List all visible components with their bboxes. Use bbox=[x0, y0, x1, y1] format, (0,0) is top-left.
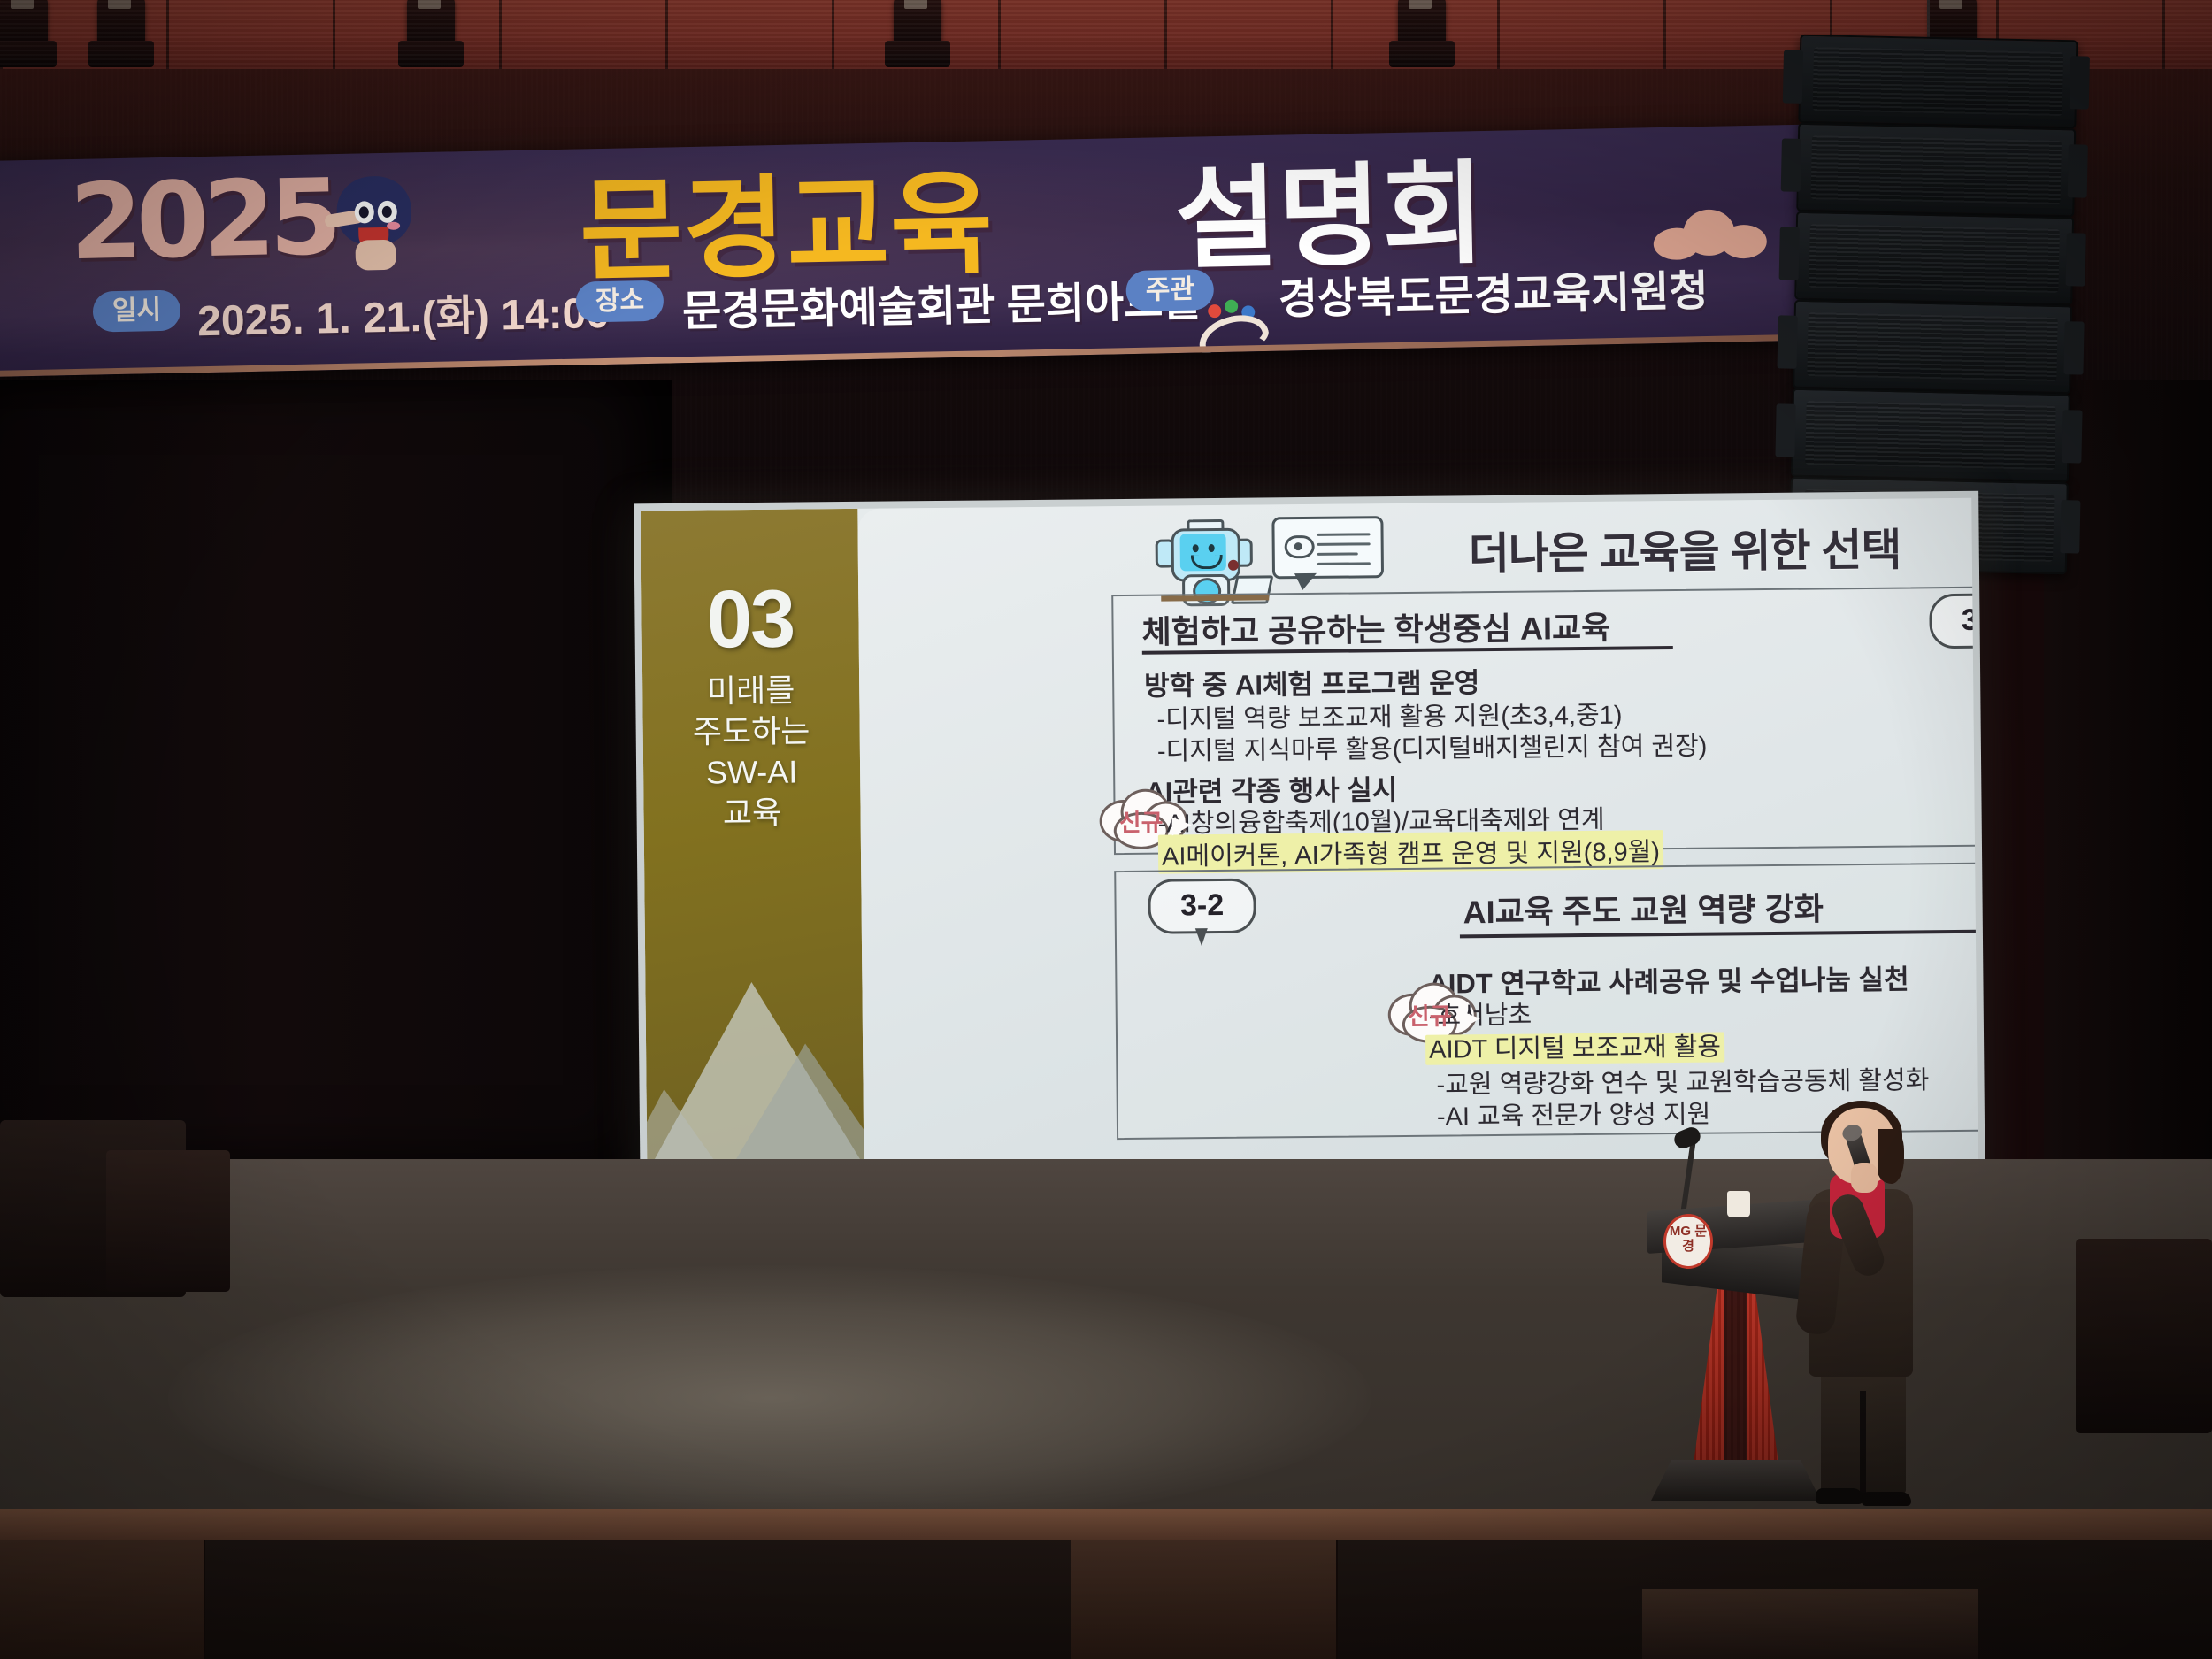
banner-year: 2025 bbox=[69, 156, 337, 283]
presentation-slide: 03 미래를 주도하는 SW-AI 교육 더나은 교 bbox=[641, 498, 1978, 1204]
place-label-pill: 장소 bbox=[575, 280, 664, 323]
section-line-3: SW-AI bbox=[643, 751, 860, 794]
place-value: 문경문화예술회관 문희아트홀 bbox=[681, 265, 1202, 338]
podium-logo: MG 문경 bbox=[1663, 1214, 1713, 1269]
section-number: 03 bbox=[641, 572, 859, 667]
host-value: 경상북도문경교육지원청 bbox=[1278, 256, 1709, 326]
box-3-2-item-2: AIDT 디지털 보조교재 활용 bbox=[1425, 1033, 1724, 1065]
new-badge-label-2: 신규 bbox=[1383, 996, 1477, 1032]
stage-front-edge bbox=[0, 1509, 2212, 1540]
slide-main-area: 더나은 교육을 위한 선택 edubest 체험하고 공유하는 학생중심 AI교… bbox=[857, 498, 1978, 1202]
water-cup bbox=[1727, 1191, 1750, 1217]
auditorium-photo: 2025 문경교육 설명회 일시 2025. 1. 21.(화) 14:00 ~… bbox=[0, 0, 2212, 1659]
content-box-3-2: 3-2 AI교육 주도 교원 역량 강화 AIDT 연구학교 사례공유 및 수업… bbox=[1114, 861, 1978, 1140]
date-label-pill: 일시 bbox=[93, 290, 181, 333]
section-line-4: 교육 bbox=[643, 792, 860, 834]
box-3-1-tag: 3-1 bbox=[1929, 593, 1978, 649]
speech-bubble-icon bbox=[1271, 516, 1384, 579]
new-badge-label: 신규 bbox=[1094, 803, 1187, 838]
section-line-1: 미래를 bbox=[642, 670, 859, 712]
content-box-3-1: 체험하고 공유하는 학생중심 AI교육 3-1 방학 중 AI체험 프로그램 운… bbox=[1111, 585, 1978, 855]
robot-at-laptop-icon bbox=[1151, 517, 1269, 599]
box-3-2-tag: 3-2 bbox=[1148, 879, 1256, 934]
section-subtitle: 미래를 주도하는 SW-AI 교육 bbox=[642, 670, 861, 834]
slide-section-panel: 03 미래를 주도하는 SW-AI 교육 bbox=[641, 509, 864, 1204]
edubest-logo-icon bbox=[1197, 303, 1269, 351]
box-3-2-item-4: -AI 교육 전문가 양성 지원 bbox=[1437, 1094, 1711, 1133]
section-line-2: 주도하는 bbox=[642, 710, 859, 753]
box-3-1-heading: 체험하고 공유하는 학생중심 AI교육 bbox=[1141, 603, 1610, 653]
mole-mascot-icon bbox=[331, 175, 414, 269]
box-3-2-heading: AI교육 주도 교원 역량 강화 bbox=[1463, 883, 1824, 933]
box-3-1-item-2: -디지털 지식마루 활용(디지털배지챌린지 참여 권장) bbox=[1157, 726, 1708, 768]
presenter bbox=[1796, 1108, 1922, 1506]
podium-logo-text: MG 문경 bbox=[1666, 1224, 1710, 1254]
projection-screen: 03 미래를 주도하는 SW-AI 교육 더나은 교 bbox=[634, 491, 1985, 1212]
slide-header-title: 더나은 교육을 위한 선택 bbox=[1468, 515, 1901, 583]
stage-riser-right bbox=[1642, 1589, 1978, 1659]
event-banner: 2025 문경교육 설명회 일시 2025. 1. 21.(화) 14:00 ~… bbox=[0, 125, 1810, 377]
stage-equipment-right bbox=[2076, 1239, 2212, 1433]
stage-equipment-left-2 bbox=[106, 1150, 230, 1292]
left-curtain bbox=[0, 380, 672, 1159]
stage-spotlight bbox=[168, 1265, 1371, 1531]
